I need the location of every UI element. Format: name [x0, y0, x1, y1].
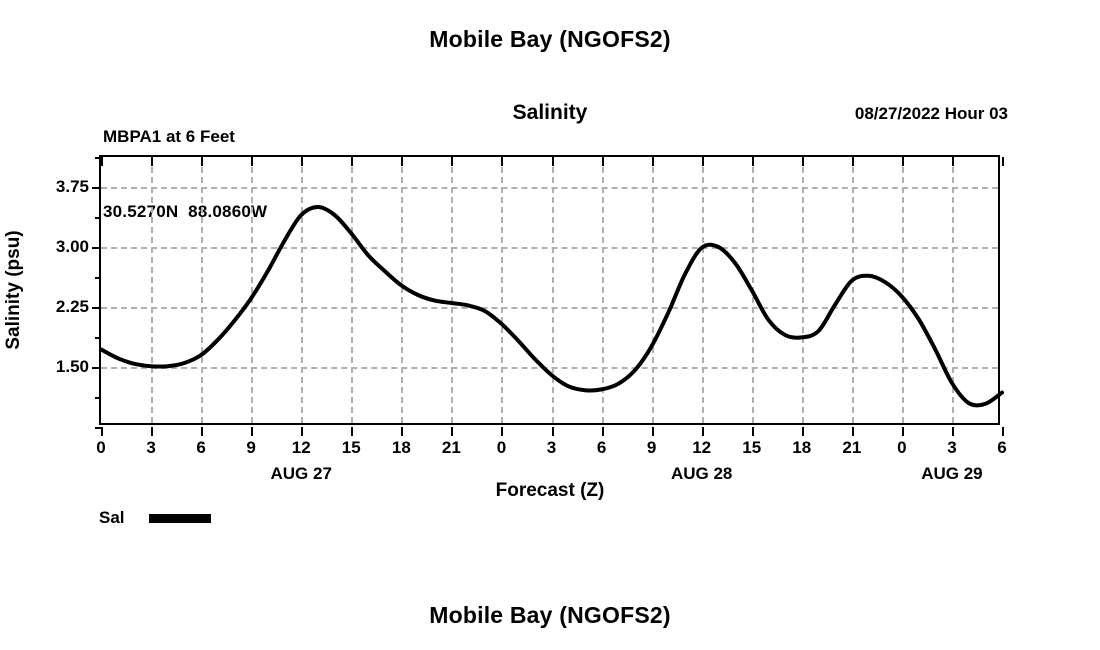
legend-swatch-sal: [149, 514, 211, 523]
station-name: MBPA1 at 6 Feet: [103, 124, 267, 149]
x-axis-tick: [702, 427, 704, 436]
y-axis-minor-tick: [95, 217, 101, 219]
x-axis-tick-label: 18: [392, 438, 411, 458]
x-axis-top-tick: [652, 157, 654, 166]
x-axis-top-tick: [351, 157, 353, 166]
chart-svg: [101, 157, 1002, 427]
x-axis-tick-label: 0: [897, 438, 906, 458]
x-axis-tick: [501, 427, 503, 436]
y-axis-minor-tick: [95, 397, 101, 399]
x-axis-tick-label: 6: [997, 438, 1006, 458]
x-axis-tick: [201, 427, 203, 436]
chart-page: Mobile Bay (NGOFS2) MBPA1 at 6 Feet 30.5…: [0, 0, 1100, 650]
y-axis-tick: [92, 367, 101, 369]
x-axis-tick: [602, 427, 604, 436]
x-axis-tick: [351, 427, 353, 436]
x-axis-top-tick: [852, 157, 854, 166]
x-axis-tick-label: 15: [742, 438, 761, 458]
y-axis-minor-tick: [95, 277, 101, 279]
page-title-top: Mobile Bay (NGOFS2): [0, 26, 1100, 53]
x-axis-tick-label: 21: [842, 438, 861, 458]
series-layer: [101, 157, 998, 423]
x-axis-top-tick: [1002, 157, 1004, 166]
x-axis-tick: [802, 427, 804, 436]
page-title-bottom: Mobile Bay (NGOFS2): [0, 602, 1100, 629]
y-axis-title: Salinity (psu): [3, 230, 25, 349]
x-axis-tick: [401, 427, 403, 436]
x-axis-tick: [101, 427, 103, 436]
x-axis-top-tick: [251, 157, 253, 166]
x-axis-tick: [652, 427, 654, 436]
series-line-sal: [101, 207, 1002, 405]
x-axis-top-tick: [902, 157, 904, 166]
x-axis-tick-label: 12: [292, 438, 311, 458]
x-axis-tick-label: 3: [547, 438, 556, 458]
x-axis-tick: [852, 427, 854, 436]
plot-area: 1.502.253.003.75036912151821036912151821…: [99, 155, 1000, 425]
x-axis-top-tick: [451, 157, 453, 166]
y-axis-minor-tick: [95, 337, 101, 339]
x-axis-tick: [1002, 427, 1004, 436]
x-axis-top-tick: [401, 157, 403, 166]
x-axis-tick-label: 0: [497, 438, 506, 458]
y-axis-tick: [92, 307, 101, 309]
x-axis-tick-label: 6: [196, 438, 205, 458]
x-axis-tick-label: 21: [442, 438, 461, 458]
x-axis-tick-label: 12: [692, 438, 711, 458]
x-axis-top-tick: [702, 157, 704, 166]
x-axis-tick: [251, 427, 253, 436]
x-axis-tick: [451, 427, 453, 436]
x-axis-tick: [552, 427, 554, 436]
legend: Sal: [99, 508, 211, 528]
y-axis-tick-label: 2.25: [56, 297, 89, 317]
x-axis-tick: [301, 427, 303, 436]
x-axis-tick-label: 18: [792, 438, 811, 458]
y-axis-tick: [92, 187, 101, 189]
x-axis-top-tick: [952, 157, 954, 166]
x-axis-top-tick: [201, 157, 203, 166]
x-axis-tick: [952, 427, 954, 436]
x-axis-tick: [752, 427, 754, 436]
x-axis-tick-label: 3: [146, 438, 155, 458]
x-axis-tick-label: 0: [96, 438, 105, 458]
x-axis-top-tick: [301, 157, 303, 166]
x-axis-top-tick: [101, 157, 103, 166]
x-axis-tick-label: 9: [647, 438, 656, 458]
y-axis-tick: [92, 247, 101, 249]
x-axis-top-tick: [602, 157, 604, 166]
x-axis-title: Forecast (Z): [0, 480, 1100, 502]
y-axis-tick-label: 3.00: [56, 237, 89, 257]
y-axis-tick-label: 3.75: [56, 177, 89, 197]
legend-label-sal: Sal: [99, 508, 125, 528]
x-axis-top-tick: [802, 157, 804, 166]
x-axis-tick: [902, 427, 904, 436]
x-axis-top-tick: [752, 157, 754, 166]
x-axis-tick-label: 9: [246, 438, 255, 458]
x-axis-tick-label: 6: [597, 438, 606, 458]
x-axis-top-tick: [151, 157, 153, 166]
x-axis-tick: [151, 427, 153, 436]
y-axis-tick-label: 1.50: [56, 357, 89, 377]
x-axis-tick-label: 3: [947, 438, 956, 458]
x-axis-top-tick: [552, 157, 554, 166]
x-axis-top-tick: [501, 157, 503, 166]
x-axis-tick-label: 15: [342, 438, 361, 458]
model-run-timestamp: 08/27/2022 Hour 03: [855, 104, 1008, 124]
